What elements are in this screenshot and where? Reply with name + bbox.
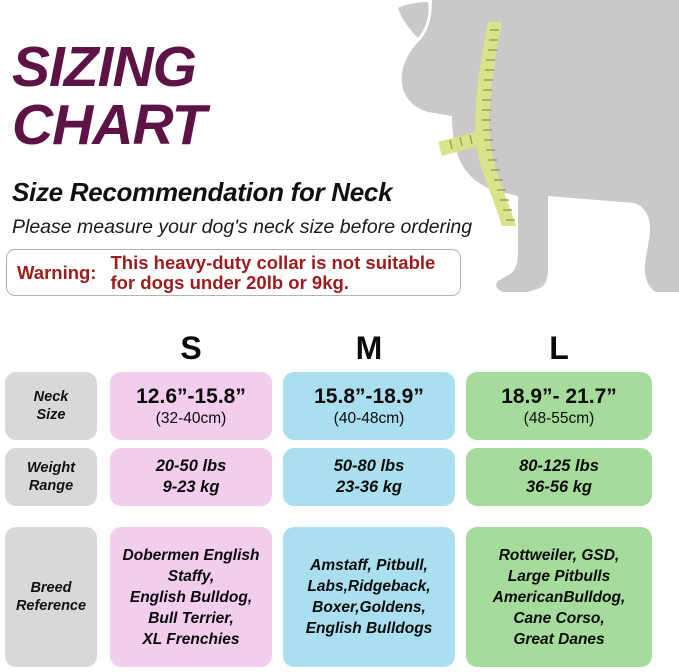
breed-l-line-4: Cane Corso, — [513, 610, 604, 627]
neck-size-m-inches: 15.8”-18.9” — [314, 385, 424, 408]
row-label-weight-range: Weight Range — [5, 448, 97, 506]
breed-s-line-4: Bull Terrier, — [148, 610, 234, 627]
weight-m-kg: 23-36 kg — [336, 478, 402, 496]
neck-size-l-inches: 18.9”- 21.7” — [501, 385, 617, 408]
breed-s-line-3: English Bulldog, — [130, 589, 252, 606]
breed-s-line-2: Staffy, — [168, 568, 215, 585]
cell-weight-range-m: 50-80 lbs 23-36 kg — [283, 448, 455, 506]
breed-m-line-3: Boxer,Goldens, — [312, 599, 426, 616]
cell-neck-size-m: 15.8”-18.9” (40-48cm) — [283, 372, 455, 440]
cell-breed-reference-l: Rottweiler, GSD, Large Pitbulls American… — [466, 527, 652, 667]
warning-label: Warning: — [7, 262, 96, 284]
weight-l-kg: 36-56 kg — [526, 478, 592, 496]
page-title: SIZING CHART — [12, 38, 482, 154]
row-label-neck-line-1: Neck — [34, 389, 69, 405]
row-label-breed-line-1: Breed — [30, 580, 71, 596]
title-line-2: CHART — [12, 96, 482, 154]
breed-l-line-1: Rottweiler, GSD, — [499, 547, 620, 564]
weight-l-lbs: 80-125 lbs — [519, 457, 599, 475]
warning-line-1: This heavy-duty collar is not suitable — [110, 252, 435, 273]
row-label-neck-line-2: Size — [36, 407, 65, 423]
cell-weight-range-s: 20-50 lbs 9-23 kg — [110, 448, 272, 506]
size-header-m: M — [283, 332, 455, 364]
neck-size-s-cm: (32-40cm) — [136, 409, 246, 428]
cell-breed-reference-m: Amstaff, Pitbull, Labs,Ridgeback, Boxer,… — [283, 527, 455, 667]
neck-size-l-cm: (48-55cm) — [501, 409, 617, 428]
cell-neck-size-s: 12.6”-15.8” (32-40cm) — [110, 372, 272, 440]
neck-size-s-inches: 12.6”-15.8” — [136, 385, 246, 408]
breed-s-line-1: Dobermen English — [123, 547, 260, 564]
cell-weight-range-l: 80-125 lbs 36-56 kg — [466, 448, 652, 506]
title-line-1: SIZING — [12, 38, 482, 96]
warning-line-2: for dogs under 20lb or 9kg. — [110, 272, 348, 293]
breed-l-line-3: AmericanBulldog, — [493, 589, 626, 606]
size-header-s: S — [110, 332, 272, 364]
breed-m-line-2: Labs,Ridgeback, — [307, 578, 430, 595]
row-label-weight-line-1: Weight — [27, 460, 75, 476]
row-label-breed-reference: Breed Reference — [5, 527, 97, 667]
weight-m-lbs: 50-80 lbs — [334, 457, 405, 475]
breed-m-line-4: English Bulldogs — [306, 620, 433, 637]
warning-box: Warning: This heavy-duty collar is not s… — [6, 249, 461, 296]
neck-size-m-cm: (40-48cm) — [314, 409, 424, 428]
weight-s-lbs: 20-50 lbs — [156, 457, 227, 475]
cell-breed-reference-s: Dobermen English Staffy, English Bulldog… — [110, 527, 272, 667]
row-label-weight-line-2: Range — [29, 478, 73, 494]
row-label-breed-line-2: Reference — [16, 598, 86, 614]
size-header-l: L — [466, 332, 652, 364]
breed-m-line-1: Amstaff, Pitbull, — [310, 557, 428, 574]
breed-s-line-5: XL Frenchies — [142, 631, 239, 648]
warning-message: This heavy-duty collar is not suitable f… — [96, 253, 435, 293]
subtitle: Size Recommendation for Neck — [12, 177, 392, 207]
cell-neck-size-l: 18.9”- 21.7” (48-55cm) — [466, 372, 652, 440]
row-label-neck-size: Neck Size — [5, 372, 97, 440]
breed-l-line-2: Large Pitbulls — [508, 568, 611, 585]
weight-s-kg: 9-23 kg — [163, 478, 220, 496]
breed-l-line-5: Great Danes — [513, 631, 604, 648]
instruction-text: Please measure your dog's neck size befo… — [12, 215, 472, 239]
